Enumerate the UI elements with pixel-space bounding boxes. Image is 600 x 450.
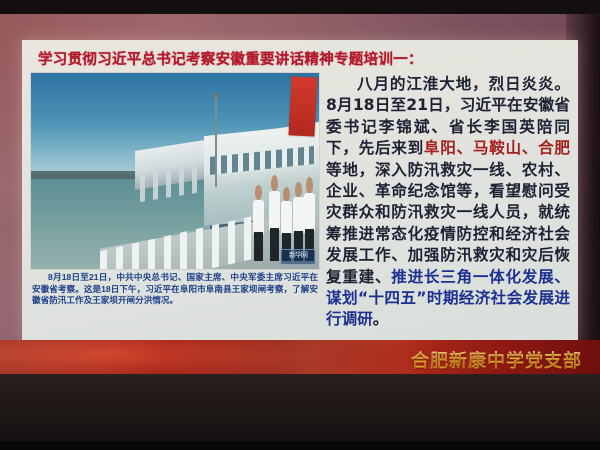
- projected-slide-screenshot: 学习贯彻习近平总书记考察安徽重要讲话精神专题培训一：: [0, 0, 600, 450]
- bottom-red-banner: 合肥新康中学党支部: [0, 340, 600, 376]
- photo-flag-pole: [215, 97, 217, 187]
- room-ceiling-dark-band: [0, 0, 600, 14]
- news-photo: 新华网: [30, 72, 320, 270]
- photo-pole-top: [212, 93, 218, 98]
- organization-name: 合肥新康中学党支部: [411, 347, 582, 373]
- photo-red-vertical-sign: [289, 76, 318, 136]
- slide-body-text: 八月的江淮大地，烈日炎炎。8月18日至21日，习近平在安徽省委书记李锦斌、省长李…: [326, 74, 570, 331]
- room-floor-dark-area: [0, 374, 600, 450]
- photo-caption: 8月18日至21日，中共中央总书记、国家主席、中央军委主席习近平在安徽省考察。这…: [32, 272, 318, 307]
- body-paragraph-part3: 。: [373, 310, 389, 328]
- presentation-slide: 学习贯彻习近平总书记考察安徽重要讲话精神专题培训一：: [22, 40, 578, 340]
- photo-person: [268, 175, 281, 261]
- room-bottom-edge: [0, 441, 600, 450]
- photo-watermark-label: 新华网: [281, 250, 315, 262]
- body-highlight-cities: 阜阳、马鞍山、合肥: [424, 139, 570, 157]
- slide-title: 学习贯彻习近平总书记考察安徽重要讲话精神专题培训一：: [38, 48, 562, 69]
- photo-watermark: 新华网: [280, 249, 316, 265]
- photo-person: [252, 185, 265, 261]
